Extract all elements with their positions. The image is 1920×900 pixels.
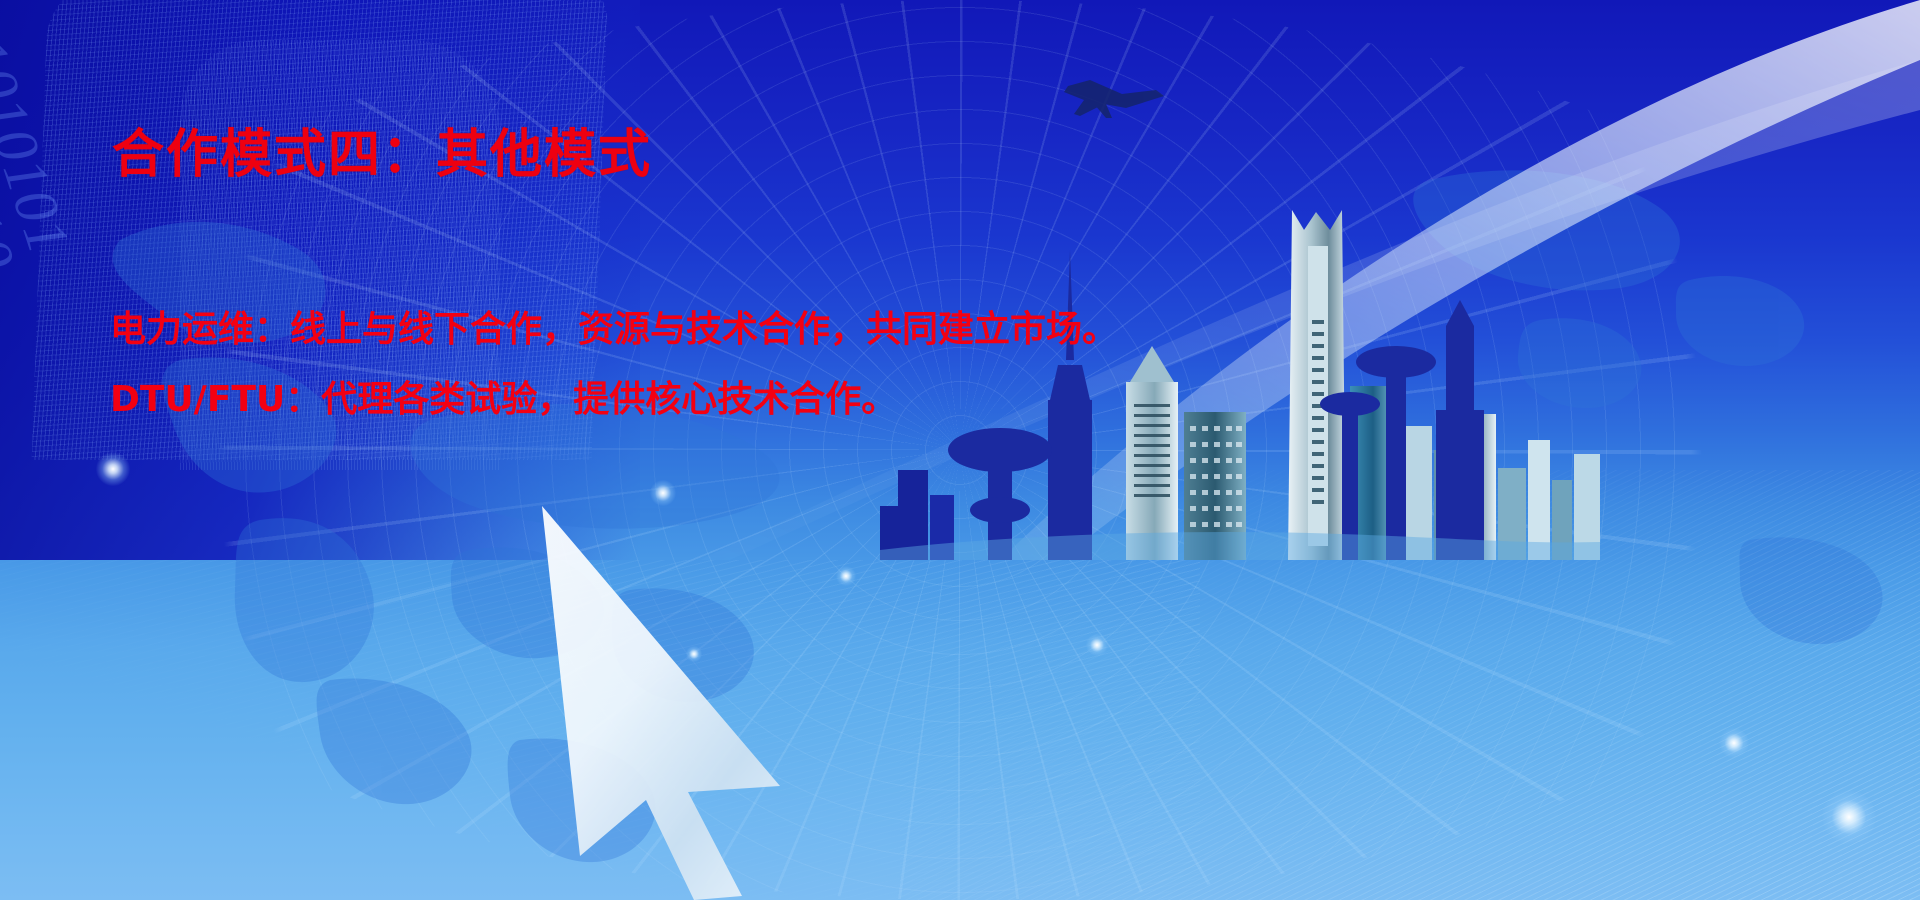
globe-icon: [0, 760, 860, 900]
glow-dot: [1822, 790, 1876, 844]
glow-dot: [1719, 728, 1749, 758]
body-line-1: 电力运维：线上与线下合作，资源与技术合作，共同建立市场。: [110, 300, 1118, 352]
body-line-2: DTU/FTU：代理各类试验，提供核心技术合作。: [110, 370, 897, 422]
presentation-slide: 0101010110101010010110101010010101101001…: [0, 0, 1920, 900]
slide-title: 合作模式四：其他模式: [112, 112, 652, 187]
